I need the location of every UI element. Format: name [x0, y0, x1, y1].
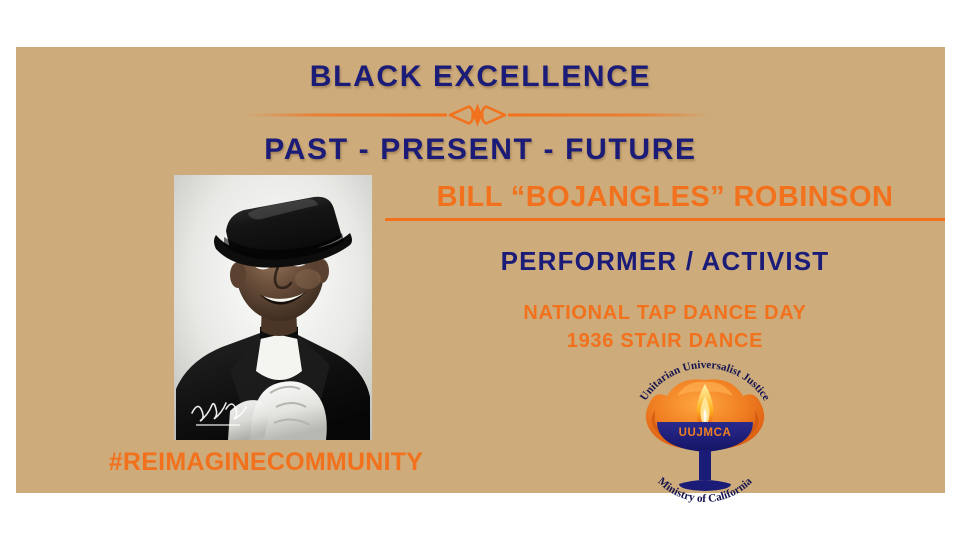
slide-canvas: BLACK EXCELLENCE: [0, 0, 960, 540]
presentation-slide: BLACK EXCELLENCE: [16, 47, 945, 493]
subject-fact-1: NATIONAL TAP DANCE DAY: [385, 299, 945, 327]
subject-facts: NATIONAL TAP DANCE DAY 1936 STAIR DANCE: [385, 299, 945, 355]
diamond-ornament-divider-icon: [245, 103, 710, 127]
subject-fact-2: 1936 STAIR DANCE: [385, 327, 945, 355]
subject-name: BILL “BOJANGLES” ROBINSON: [385, 179, 945, 221]
subject-portrait-photo: [174, 175, 372, 440]
uujmca-logo: UUJMCA Unitarian Universalist Justice Mi…: [619, 360, 791, 504]
logo-acronym: UUJMCA: [679, 427, 732, 439]
subject-role: PERFORMER / ACTIVIST: [385, 245, 945, 277]
headline-secondary: PAST - PRESENT - FUTURE: [16, 133, 945, 167]
campaign-hashtag: #REIMAGINECOMMUNITY: [66, 447, 466, 477]
headline-primary: BLACK EXCELLENCE: [16, 60, 945, 94]
